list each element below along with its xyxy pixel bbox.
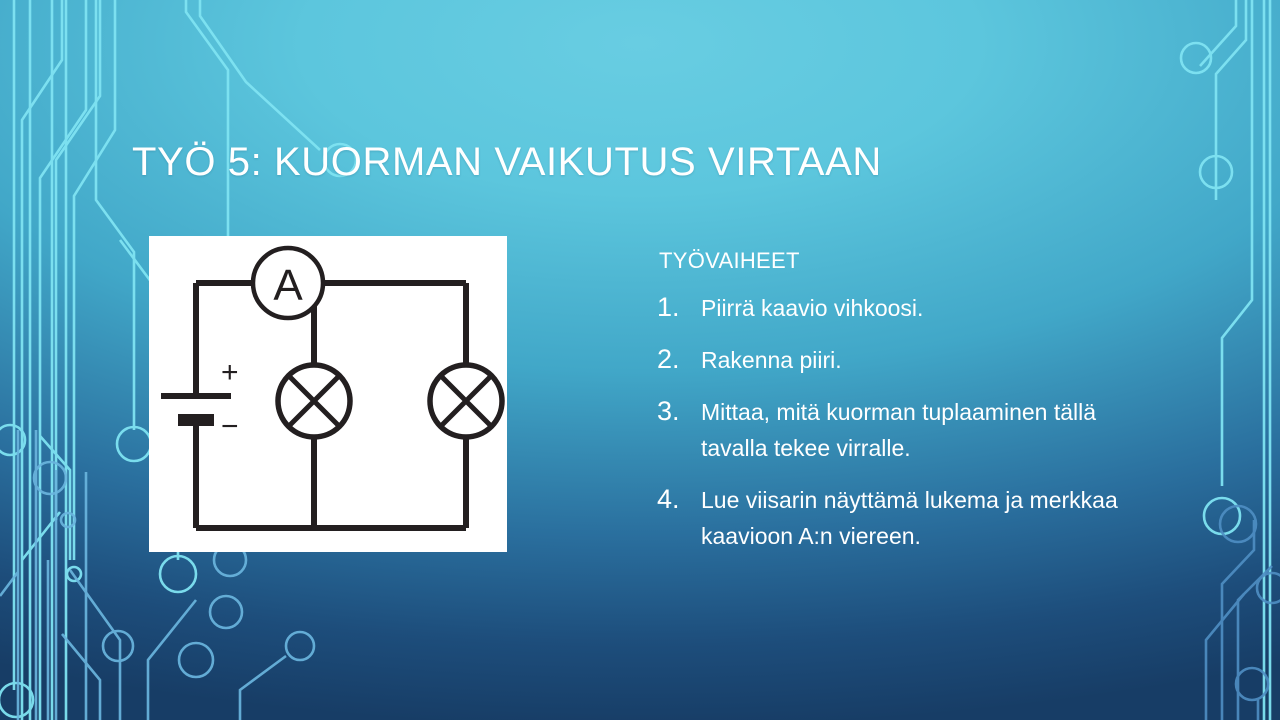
list-item-text: Mittaa, mitä kuorman tuplaaminen tällä t… [701,394,1161,466]
battery-positive-plate [161,393,231,399]
circuit-diagram: A + − [149,236,507,552]
battery-negative-plate [178,414,214,426]
list-item-text: Piirrä kaavio vihkoosi. [701,290,923,326]
work-steps-heading: TYÖVAIHEET [659,248,1177,274]
lamp-symbol-1 [278,365,350,437]
list-item: 2. Rakenna piiri. [657,342,1177,378]
list-item-number: 1. [657,290,701,324]
slide-title: TYÖ 5: KUORMAN VAIKUTUS VIRTAAN [132,140,882,185]
circuit-diagram-panel: A + − [149,236,507,552]
list-item-number: 2. [657,342,701,376]
list-item: 1. Piirrä kaavio vihkoosi. [657,290,1177,326]
slide: TYÖ 5: KUORMAN VAIKUTUS VIRTAAN [0,0,1280,720]
list-item-number: 4. [657,482,701,516]
lamp-symbol-2 [430,365,502,437]
ammeter-label: A [273,261,303,310]
battery-minus-label: − [221,410,239,443]
list-item-text: Lue viisarin näyttämä lukema ja merkkaa … [701,482,1161,554]
ammeter-symbol: A [253,248,323,318]
battery-plus-label: + [221,356,239,389]
list-item-text: Rakenna piiri. [701,342,842,378]
work-steps-block: TYÖVAIHEET 1. Piirrä kaavio vihkoosi. 2.… [657,248,1177,570]
list-item: 3. Mittaa, mitä kuorman tuplaaminen täll… [657,394,1177,466]
list-item: 4. Lue viisarin näyttämä lukema ja merkk… [657,482,1177,554]
battery-symbol: + − [161,356,239,443]
list-item-number: 3. [657,394,701,428]
